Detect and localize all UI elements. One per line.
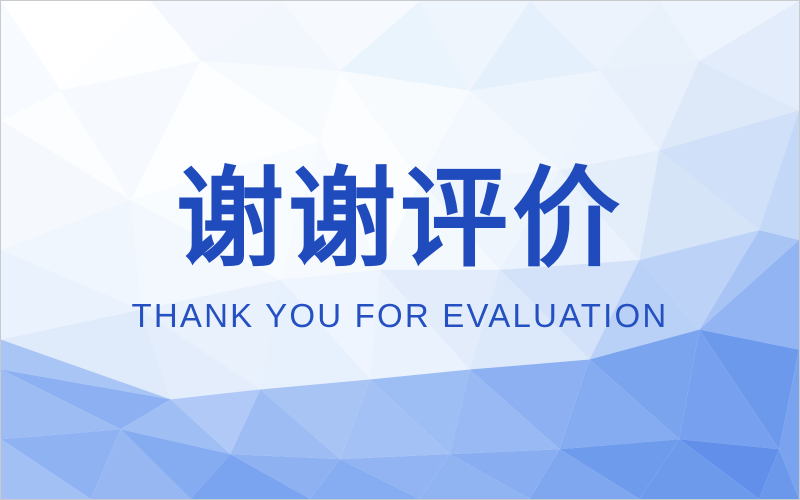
- page-subtitle: THANK YOU FOR EVALUATION: [132, 297, 669, 335]
- slide-content: 谢谢评价 THANK YOU FOR EVALUATION: [1, 1, 799, 499]
- page-title: 谢谢评价: [176, 165, 624, 273]
- thank-you-slide: 谢谢评价 THANK YOU FOR EVALUATION: [0, 0, 800, 500]
